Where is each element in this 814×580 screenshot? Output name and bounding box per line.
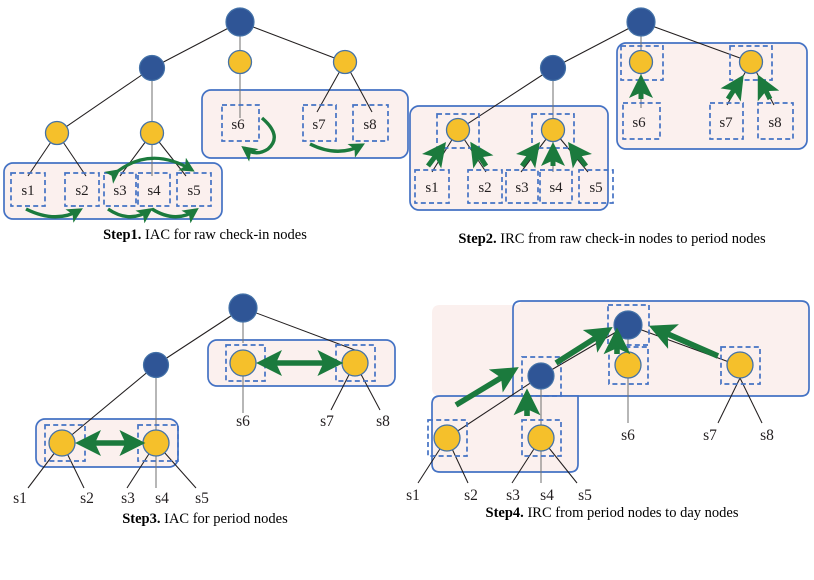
checkin-label-s7: s7 <box>312 117 326 133</box>
diagram-step2: s1 s2 s3 s4 s5 s6 s7 s8 <box>410 0 814 230</box>
caption-step3-prefix: Step3. <box>122 511 160 527</box>
day-node-1 <box>528 363 554 389</box>
checkin-label-s2: s2 <box>464 487 478 504</box>
checkin-label-s3: s3 <box>506 487 520 504</box>
caption-step2-text: IRC from raw check-in nodes to period no… <box>497 231 766 247</box>
caption-step4-text: IRC from period nodes to day nodes <box>524 505 739 521</box>
day-node-root <box>229 294 257 322</box>
diagram-step1: s1 s2 s3 s4 s5 s6 s7 s8 <box>0 0 410 232</box>
caption-step1: Step1. IAC for raw check-in nodes <box>0 226 410 245</box>
caption-step2-prefix: Step2. <box>458 231 496 247</box>
checkin-label-s8: s8 <box>768 115 781 131</box>
figure-root: s1 s2 s3 s4 s5 s6 s7 s8 Step1. IAC for r… <box>0 0 814 580</box>
period-node-3 <box>615 352 641 378</box>
checkin-label-s3: s3 <box>113 183 126 199</box>
checkin-label-s6: s6 <box>632 115 646 131</box>
caption-step4: Step4. IRC from period nodes to day node… <box>410 504 814 523</box>
period-node-1 <box>49 430 75 456</box>
period-node-2 <box>542 119 565 142</box>
checkin-label-s6: s6 <box>621 427 635 444</box>
day-node-1 <box>140 56 165 81</box>
checkin-label-s5: s5 <box>195 490 209 507</box>
checkin-label-s6: s6 <box>231 117 245 133</box>
caption-step1-prefix: Step1. <box>103 227 141 243</box>
checkin-label-s6: s6 <box>236 413 250 430</box>
period-node-4 <box>334 51 357 74</box>
caption-step1-text: IAC for raw check-in nodes <box>141 227 306 243</box>
checkin-label-s5: s5 <box>578 487 592 504</box>
checkin-label-s3: s3 <box>121 490 135 507</box>
day-node-1 <box>541 56 566 81</box>
caption-step3: Step3. IAC for period nodes <box>0 510 410 529</box>
checkin-label-s4: s4 <box>147 183 161 199</box>
period-node-3 <box>630 51 653 74</box>
panel-step2: s1 s2 s3 s4 s5 s6 s7 s8 Step2. IRC from … <box>410 0 814 280</box>
period-node-4 <box>342 350 368 376</box>
checkin-label-s8: s8 <box>376 413 390 430</box>
day-node-root <box>627 8 655 36</box>
checkin-label-s7: s7 <box>719 115 733 131</box>
checkin-label-s4: s4 <box>549 180 563 196</box>
period-node-1 <box>46 122 69 145</box>
checkin-label-s5: s5 <box>589 180 602 196</box>
checkin-label-s8: s8 <box>363 117 376 133</box>
period-node-4 <box>740 51 763 74</box>
checkin-label-s7: s7 <box>320 413 334 430</box>
checkin-label-s1: s1 <box>13 490 27 507</box>
period-node-1 <box>447 119 470 142</box>
day-node-1 <box>144 353 169 378</box>
panel-step4: s1 s2 s3 s4 s5 s6 s7 s8 Step4. IRC from … <box>410 288 814 580</box>
checkin-label-s4: s4 <box>540 487 554 504</box>
checkin-label-s7: s7 <box>703 427 717 444</box>
caption-step4-prefix: Step4. <box>486 505 524 521</box>
checkin-label-s2: s2 <box>75 183 88 199</box>
panel-step1: s1 s2 s3 s4 s5 s6 s7 s8 Step1. IAC for r… <box>0 0 410 260</box>
checkin-label-s4: s4 <box>155 490 169 507</box>
checkin-label-s2: s2 <box>478 180 491 196</box>
checkin-label-s1: s1 <box>21 183 34 199</box>
checkin-label-s2: s2 <box>80 490 94 507</box>
caption-step2: Step2. IRC from raw check-in nodes to pe… <box>410 230 814 249</box>
period-node-1 <box>434 425 460 451</box>
caption-step3-text: IAC for period nodes <box>161 511 288 527</box>
checkin-label-s1: s1 <box>425 180 438 196</box>
checkin-label-s8: s8 <box>760 427 774 444</box>
period-node-2 <box>141 122 164 145</box>
diagram-step3: s1 s2 s3 s4 s5 s6 s7 s8 <box>0 288 410 503</box>
diagram-step4: s1 s2 s3 s4 s5 s6 s7 s8 <box>410 288 814 508</box>
checkin-label-s1: s1 <box>406 487 420 504</box>
period-node-2 <box>528 425 554 451</box>
checkin-label-s3: s3 <box>515 180 528 196</box>
period-node-2 <box>143 430 169 456</box>
checkin-label-s5: s5 <box>187 183 200 199</box>
panel-step3: s1 s2 s3 s4 s5 s6 s7 s8 Step3. IAC for p… <box>0 288 410 580</box>
period-node-3 <box>229 51 252 74</box>
period-node-4 <box>727 352 753 378</box>
period-node-3 <box>230 350 256 376</box>
day-node-root <box>226 8 254 36</box>
